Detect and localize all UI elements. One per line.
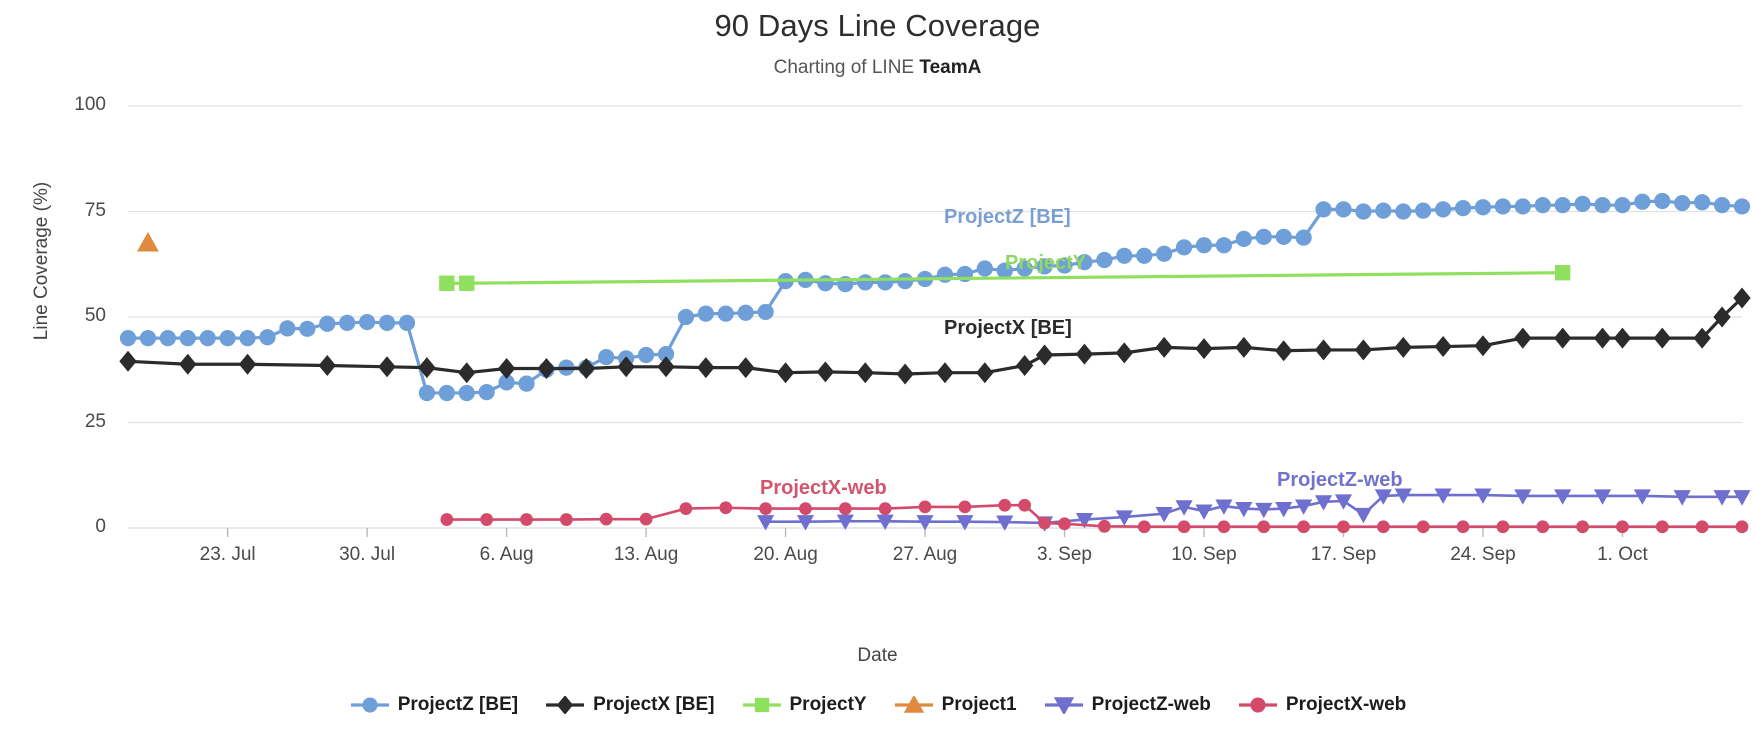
inline-series-label: ProjectX [BE] (944, 317, 1072, 340)
data-point-marker (1377, 520, 1390, 533)
inline-series-label: ProjectZ [BE] (944, 206, 1071, 229)
data-point-marker (1594, 197, 1610, 213)
data-point-marker (1255, 503, 1272, 518)
data-point-marker (1218, 520, 1231, 533)
data-point-marker (137, 232, 159, 252)
data-point-marker (754, 698, 768, 712)
data-point-marker (1275, 340, 1292, 361)
data-point-marker (120, 330, 136, 346)
data-point-marker (1656, 520, 1669, 533)
data-point-marker (1016, 355, 1033, 376)
legend-item-label: ProjectX [BE] (593, 694, 714, 716)
data-point-marker (976, 362, 993, 383)
data-point-marker (799, 502, 812, 515)
legend-item[interactable]: ProjectY (741, 694, 867, 716)
x-tick-label: 1. Oct (1552, 544, 1692, 566)
legend-item-label: Project1 (942, 694, 1017, 716)
data-point-marker (518, 376, 534, 392)
data-point-marker (339, 315, 355, 331)
data-point-marker (879, 502, 892, 515)
data-point-marker (678, 309, 694, 325)
data-point-marker (1457, 520, 1470, 533)
data-point-marker (399, 315, 415, 331)
data-point-marker (1574, 196, 1590, 212)
y-tick-label: 25 (36, 411, 106, 433)
circle-marker (1237, 696, 1279, 714)
data-point-marker (1495, 198, 1511, 214)
data-point-marker (459, 385, 475, 401)
legend-item[interactable]: Project1 (893, 694, 1017, 716)
data-point-marker (737, 357, 754, 378)
data-point-marker (1018, 499, 1031, 512)
data-point-marker (1178, 520, 1191, 533)
data-point-marker (439, 276, 454, 291)
data-point-marker (1555, 265, 1570, 280)
data-point-marker (1594, 328, 1611, 349)
data-point-marker (857, 362, 874, 383)
data-point-marker (1250, 697, 1265, 712)
x-tick-label: 6. Aug (437, 544, 577, 566)
data-point-marker (1614, 328, 1631, 349)
data-point-marker (140, 330, 156, 346)
data-point-marker (1554, 328, 1571, 349)
data-point-marker (1514, 328, 1531, 349)
data-point-marker (1375, 203, 1391, 219)
data-point-marker (480, 513, 493, 526)
square-marker (741, 696, 783, 714)
x-axis-title: Date (0, 645, 1755, 667)
x-tick-label: 3. Sep (995, 544, 1135, 566)
data-point-marker (1235, 337, 1252, 358)
data-point-marker (897, 273, 913, 289)
data-point-marker (1196, 237, 1212, 253)
data-point-marker (419, 385, 435, 401)
data-point-marker (718, 306, 734, 322)
data-point-marker (1156, 246, 1172, 262)
data-point-marker (1096, 252, 1112, 268)
data-point-marker (680, 502, 693, 515)
y-tick-label: 75 (36, 200, 106, 222)
data-point-marker (638, 347, 654, 363)
data-point-marker (1714, 197, 1730, 213)
x-tick-label: 13. Aug (576, 544, 716, 566)
legend-item[interactable]: ProjectX-web (1237, 694, 1406, 716)
data-point-marker (557, 696, 573, 714)
data-point-marker (959, 501, 972, 514)
data-point-marker (600, 513, 613, 526)
data-point-marker (1415, 203, 1431, 219)
data-point-marker (817, 361, 834, 382)
data-point-marker (598, 349, 614, 365)
data-point-marker (119, 351, 136, 372)
data-point-marker (440, 513, 453, 526)
data-point-marker (459, 276, 474, 291)
data-point-marker (1455, 200, 1471, 216)
data-point-marker (1155, 337, 1172, 358)
data-point-marker (1036, 344, 1053, 365)
data-point-marker (1257, 520, 1270, 533)
data-point-marker (738, 305, 754, 321)
data-point-marker (179, 354, 196, 375)
data-point-marker (1654, 328, 1671, 349)
data-point-marker (1236, 231, 1252, 247)
chart-legend: ProjectZ [BE]ProjectX [BE]ProjectYProjec… (0, 694, 1755, 716)
data-point-marker (1256, 229, 1272, 245)
data-point-marker (1195, 338, 1212, 359)
inline-series-label: ProjectY (1005, 252, 1086, 275)
legend-item[interactable]: ProjectX [BE] (544, 694, 714, 716)
data-point-marker (857, 274, 873, 290)
data-point-marker (777, 362, 794, 383)
data-point-marker (698, 306, 714, 322)
y-tick-label: 100 (36, 94, 106, 116)
line-coverage-chart: 90 Days Line Coverage Charting of LINE T… (0, 0, 1755, 744)
data-point-marker (1315, 201, 1331, 217)
inline-series-label: ProjectX-web (760, 477, 887, 500)
plot-area (0, 0, 1755, 744)
data-point-marker (1434, 336, 1451, 357)
series-line (128, 298, 1742, 374)
data-point-marker (1058, 517, 1071, 530)
data-point-marker (362, 697, 377, 712)
data-point-marker (1694, 194, 1710, 210)
data-point-marker (817, 275, 833, 291)
data-point-marker (877, 274, 893, 290)
data-point-marker (1297, 520, 1310, 533)
data-point-marker (937, 267, 953, 283)
legend-item-label: ProjectZ [BE] (398, 694, 518, 716)
data-point-marker (520, 513, 533, 526)
data-point-marker (319, 355, 336, 376)
series-projectx-be (119, 288, 1750, 385)
data-point-marker (1355, 339, 1372, 360)
series-projectz-be (120, 193, 1750, 401)
data-point-marker (1435, 201, 1451, 217)
legend-item-label: ProjectX-web (1286, 694, 1406, 716)
data-point-marker (1674, 195, 1690, 211)
series-line (128, 201, 1742, 393)
data-point-marker (378, 356, 395, 377)
data-point-marker (1315, 339, 1332, 360)
y-tick-label: 50 (36, 305, 106, 327)
data-point-marker (1116, 342, 1133, 363)
data-point-marker (1076, 344, 1093, 365)
data-point-marker (1696, 520, 1709, 533)
series-projectz-web (757, 488, 1751, 531)
data-point-marker (998, 499, 1011, 512)
data-point-marker (560, 513, 573, 526)
x-tick-label: 20. Aug (716, 544, 856, 566)
data-point-marker (239, 330, 255, 346)
data-point-marker (758, 304, 774, 320)
data-point-marker (719, 501, 732, 514)
data-point-marker (439, 385, 455, 401)
data-point-marker (319, 316, 335, 332)
data-point-marker (1395, 203, 1411, 219)
data-point-marker (1614, 197, 1630, 213)
data-point-marker (259, 329, 275, 345)
data-point-marker (1116, 248, 1132, 264)
series-line (766, 495, 1742, 523)
data-point-marker (1475, 199, 1491, 215)
data-point-marker (1497, 520, 1510, 533)
series-project1 (137, 232, 159, 252)
inline-series-label: ProjectZ-web (1277, 469, 1403, 492)
y-axis-title: Line Coverage (%) (31, 161, 53, 361)
data-point-marker (1634, 194, 1650, 210)
data-point-marker (239, 354, 256, 375)
x-tick-label: 24. Sep (1413, 544, 1553, 566)
data-point-marker (936, 362, 953, 383)
data-point-marker (759, 502, 772, 515)
data-point-marker (498, 358, 515, 379)
data-point-marker (1276, 229, 1292, 245)
data-point-marker (1136, 248, 1152, 264)
data-point-marker (200, 330, 216, 346)
x-tick-label: 30. Jul (297, 544, 437, 566)
data-point-marker (1355, 203, 1371, 219)
x-tick-label: 23. Jul (158, 544, 298, 566)
data-point-marker (896, 363, 913, 384)
data-point-marker (180, 330, 196, 346)
data-point-marker (359, 314, 375, 330)
data-point-marker (919, 501, 932, 514)
data-point-marker (1536, 520, 1549, 533)
data-point-marker (1395, 337, 1412, 358)
data-point-marker (1216, 237, 1232, 253)
legend-item[interactable]: ProjectZ-web (1043, 694, 1211, 716)
data-point-marker (1535, 197, 1551, 213)
data-point-marker (1335, 201, 1351, 217)
data-point-marker (1654, 193, 1670, 209)
data-point-marker (1296, 230, 1312, 246)
circle-marker (349, 696, 391, 714)
data-point-marker (379, 315, 395, 331)
data-point-marker (1337, 520, 1350, 533)
triangle-up-marker (893, 696, 935, 714)
x-tick-label: 10. Sep (1134, 544, 1274, 566)
data-point-marker (697, 357, 714, 378)
data-point-marker (1734, 198, 1750, 214)
data-point-marker (1555, 197, 1571, 213)
data-point-marker (1138, 520, 1151, 533)
data-point-marker (1736, 520, 1749, 533)
data-point-marker (220, 330, 236, 346)
legend-item-label: ProjectY (790, 694, 867, 716)
diamond-marker (544, 696, 586, 714)
legend-item[interactable]: ProjectZ [BE] (349, 694, 518, 716)
data-point-marker (839, 502, 852, 515)
data-point-marker (1474, 335, 1491, 356)
data-point-marker (1417, 520, 1430, 533)
data-point-marker (1098, 520, 1111, 533)
data-point-marker (1355, 508, 1372, 523)
data-point-marker (279, 320, 295, 336)
data-point-marker (479, 384, 495, 400)
data-point-marker (1038, 517, 1051, 530)
data-point-marker (1616, 520, 1629, 533)
data-point-marker (640, 513, 653, 526)
data-point-marker (458, 362, 475, 383)
y-tick-label: 0 (36, 516, 106, 538)
triangle-down-marker (1043, 696, 1085, 714)
data-point-marker (160, 330, 176, 346)
data-point-marker (1576, 520, 1589, 533)
data-point-marker (1176, 239, 1192, 255)
data-point-marker (578, 358, 595, 379)
data-point-marker (299, 321, 315, 337)
legend-item-label: ProjectZ-web (1092, 694, 1211, 716)
data-point-marker (1195, 505, 1212, 520)
x-tick-label: 17. Sep (1273, 544, 1413, 566)
x-tick-label: 27. Aug (855, 544, 995, 566)
data-point-marker (977, 260, 993, 276)
data-point-marker (1515, 198, 1531, 214)
